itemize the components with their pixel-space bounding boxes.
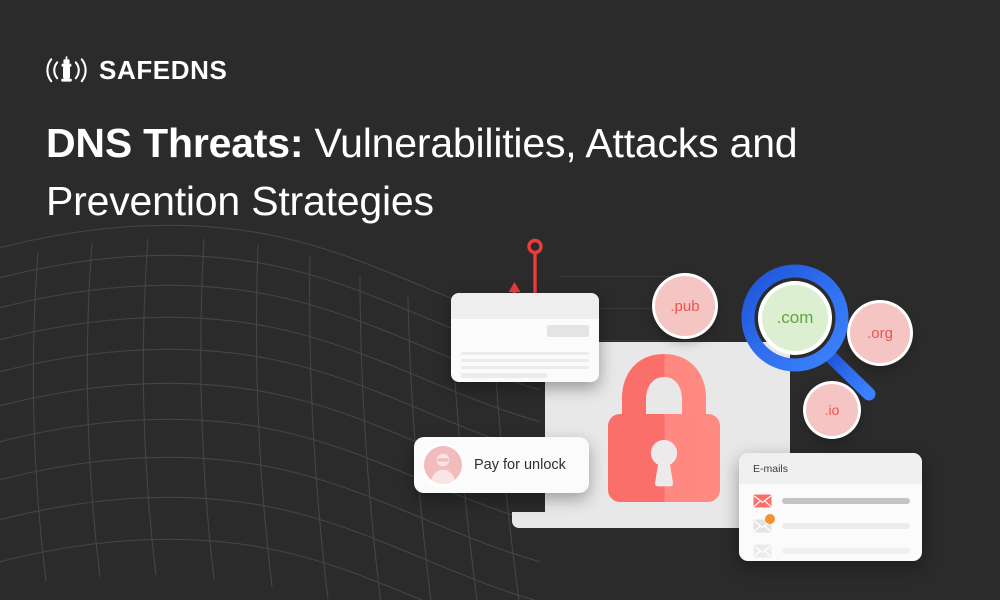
emails-card-title: E-mails — [753, 463, 788, 475]
email-subject-bar — [782, 523, 910, 529]
focused-domain-bubble[interactable]: .com — [762, 285, 828, 351]
envelope-icon — [753, 494, 772, 508]
hero-illustration: Pay for unlock E-mails — [0, 0, 1000, 600]
hacker-avatar-icon — [424, 446, 462, 484]
list-item[interactable] — [739, 488, 922, 513]
pay-for-unlock-chip[interactable]: Pay for unlock — [414, 437, 589, 493]
focused-domain-label: .com — [777, 308, 814, 328]
emails-card[interactable]: E-mails — [739, 453, 922, 561]
banner-canvas: SAFEDNS DNS Threats: Vulnerabilities, At… — [0, 0, 1000, 600]
alert-badge-icon — [765, 514, 775, 524]
spoofed-page-card[interactable] — [451, 293, 599, 382]
magnifier-icon[interactable]: .com — [735, 258, 880, 418]
padlock-icon — [605, 352, 723, 504]
pay-for-unlock-label: Pay for unlock — [474, 457, 566, 473]
emails-card-header: E-mails — [739, 453, 922, 484]
domain-bubble-label: .pub — [670, 298, 699, 315]
card-body — [451, 319, 599, 378]
card-text-line — [461, 352, 589, 355]
card-text-line — [461, 359, 589, 362]
list-item[interactable] — [739, 538, 922, 561]
domain-bubble-pub[interactable]: .pub — [655, 276, 715, 336]
card-placeholder-block — [547, 325, 589, 337]
email-subject-bar — [782, 548, 910, 554]
card-text-line — [461, 366, 589, 369]
card-text-line — [461, 373, 547, 378]
emails-list — [739, 484, 922, 561]
envelope-icon — [753, 544, 772, 558]
email-subject-bar — [782, 498, 910, 504]
card-header-bar — [451, 293, 599, 319]
list-item[interactable] — [739, 513, 922, 538]
